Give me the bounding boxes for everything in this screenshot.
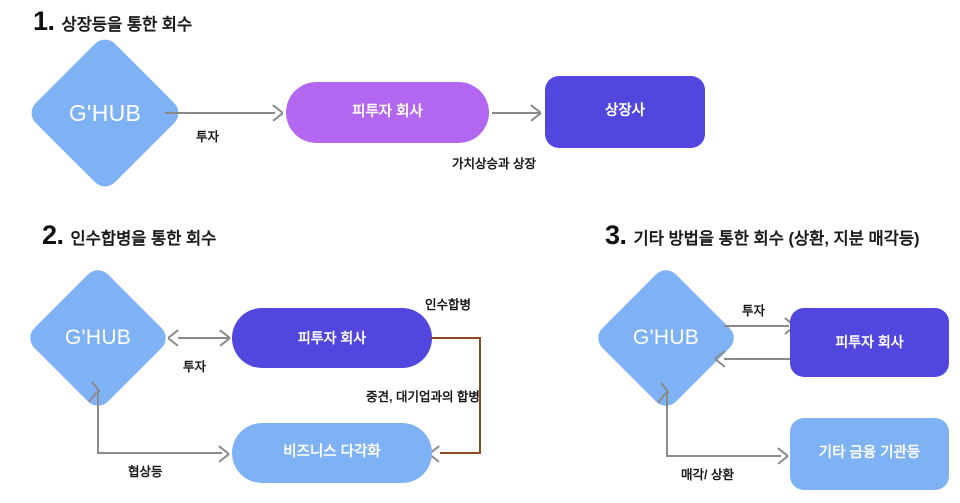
section-2-portfolio-label: 피투자 회사 xyxy=(298,330,366,347)
section-2-ma-connector-bottom xyxy=(440,452,480,454)
section-3-edge-sell-riser xyxy=(666,391,668,456)
section-2-diversify-label: 비즈니스 다각화 xyxy=(283,444,380,461)
section-1-ghub-label: G'HUB xyxy=(49,57,161,169)
section-1-listed-node[interactable]: 상장사 xyxy=(545,76,705,148)
section-3-edge-sell-arrowhead xyxy=(774,448,789,463)
section-1-edge-listing-arrowhead xyxy=(527,105,542,120)
section-2-edge-invest-label: 투자 xyxy=(183,356,206,375)
section-1-edge-invest-label: 투자 xyxy=(196,126,219,145)
section-3-portfolio-node[interactable]: 피투자 회사 xyxy=(790,308,949,377)
section-3-heading: 3. 기타 방법을 통한 회수 (상환, 지분 매각등) xyxy=(605,222,920,249)
section-2-title: 인수합병을 통한 회수 xyxy=(71,231,217,248)
section-3-edge-invest-label: 투자 xyxy=(742,300,765,319)
section-1-listed-label: 상장사 xyxy=(605,103,645,120)
section-2-edge-negotiation-arrowhead xyxy=(215,446,230,461)
section-2-number: 2. xyxy=(42,222,64,249)
section-2-edge-negotiation-riser xyxy=(97,390,99,453)
section-1-title: 상장등을 통한 회수 xyxy=(62,17,193,34)
section-1-edge-listing-label: 가치상승과 상장 xyxy=(452,153,536,172)
section-2-heading: 2. 인수합병을 통한 회수 xyxy=(42,222,216,249)
section-3-edge-sell-line xyxy=(666,455,781,457)
section-2-ghub-label: G'HUB xyxy=(46,286,150,390)
section-2-edge-negotiation-line xyxy=(97,452,222,454)
section-2-edge-invest-arrowhead-right xyxy=(216,330,231,345)
diagram-canvas: 1. 상장등을 통한 회수 G'HUB 투자 피투자 회사 가치상승과 상장 상… xyxy=(0,0,960,503)
section-3-ghub-node[interactable]: G'HUB xyxy=(614,286,718,390)
section-2-ghub-node[interactable]: G'HUB xyxy=(46,286,150,390)
section-2-edge-negotiation-arrowhead-up xyxy=(91,384,106,399)
section-1-ghub-node[interactable]: G'HUB xyxy=(49,57,161,169)
section-1-portfolio-label: 피투자 회사 xyxy=(352,104,423,121)
section-1-heading: 1. 상장등을 통한 회수 xyxy=(33,8,192,35)
section-2-diversify-node[interactable]: 비즈니스 다각화 xyxy=(232,423,432,483)
section-2-portfolio-node[interactable]: 피투자 회사 xyxy=(232,308,432,368)
section-3-title: 기타 방법을 통한 회수 (상환, 지분 매각등) xyxy=(634,231,920,248)
section-2-edge-merge-label: 중견, 대기업과의 합병 xyxy=(366,386,480,405)
section-2-edge-negotiation-label: 협상등 xyxy=(128,461,163,480)
section-3-edge-return-arrowhead xyxy=(714,351,729,366)
section-3-edge-sell-label: 매각/ 상환 xyxy=(681,464,734,483)
section-1-number: 1. xyxy=(33,8,55,35)
section-1-edge-invest-arrowhead xyxy=(269,105,284,120)
section-3-institutions-label: 기타 금융 기관등 xyxy=(819,445,920,462)
section-2-ma-connector-top xyxy=(431,337,481,339)
section-2-edge-invest-arrowhead-left xyxy=(167,330,182,345)
section-3-institutions-node[interactable]: 기타 금융 기관등 xyxy=(790,418,949,490)
section-3-edge-return-line xyxy=(724,358,790,360)
section-1-portfolio-node[interactable]: 피투자 회사 xyxy=(286,82,489,143)
section-1-edge-invest-line xyxy=(165,112,275,114)
section-3-edge-sell-arrowhead-up xyxy=(660,385,675,400)
section-2-edge-ma-label: 인수합병 xyxy=(425,294,471,313)
section-3-portfolio-label: 피투자 회사 xyxy=(835,334,903,351)
section-3-ghub-label: G'HUB xyxy=(614,286,718,390)
section-3-number: 3. xyxy=(605,222,627,249)
section-3-edge-invest-line xyxy=(724,325,789,327)
